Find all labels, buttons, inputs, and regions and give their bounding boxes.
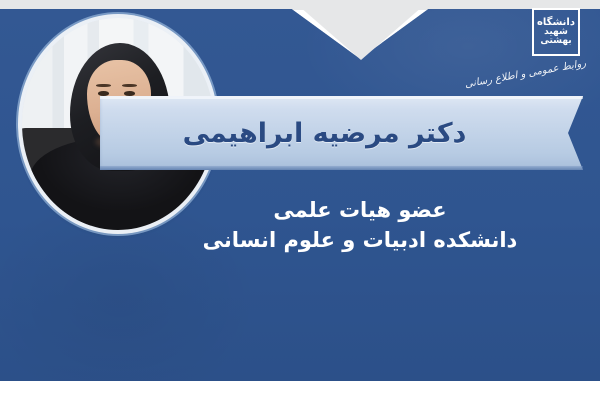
eyebrow-right xyxy=(122,84,137,87)
logo-mark-text: دانشگاه شهید بهشتی xyxy=(537,13,575,51)
subtitle-faculty: دانشکده ادبیات و علوم انسانی xyxy=(150,226,570,256)
page-title: دکتر مرضیه ابراهیمی xyxy=(100,96,583,170)
logo-line-beheshti: بهشتی xyxy=(540,37,571,46)
logo-mark-icon: دانشگاه شهید بهشتی xyxy=(532,8,580,56)
logo-public-relations-script: روابط عمومی و اطلاع رسانی xyxy=(483,58,587,87)
faculty-profile-card: دکتر مرضیه ابراهیمی عضو هیات علمی دانشکد… xyxy=(0,0,600,400)
eyebrow-left xyxy=(96,84,111,87)
subtitle-role: عضو هیات علمی xyxy=(150,196,570,226)
university-logo: دانشگاه شهید بهشتی روابط عمومی و اطلاع ر… xyxy=(478,6,588,92)
name-ribbon: دکتر مرضیه ابراهیمی xyxy=(100,96,583,170)
subtitle-block: عضو هیات علمی دانشکده ادبیات و علوم انسا… xyxy=(150,196,570,256)
